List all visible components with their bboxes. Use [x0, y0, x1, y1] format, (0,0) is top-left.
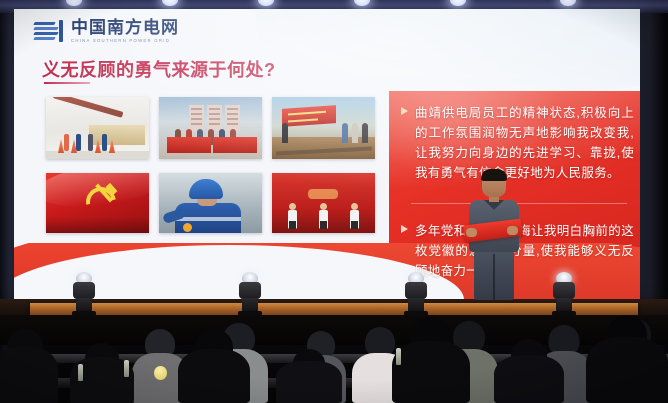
audience-member [276, 357, 342, 403]
slide-title: 义无反顾的勇气来源于何处? [42, 56, 276, 82]
drink-cup [154, 366, 167, 380]
photo-team-red-banner [159, 97, 262, 159]
photo-grid [46, 97, 376, 233]
arrow-bullet-icon [401, 225, 408, 233]
water-bottle [124, 360, 129, 377]
ceiling-lamp-icon [560, 0, 576, 6]
water-bottle [396, 348, 401, 365]
projection-screen: 中国南方电网 CHINA SOUTHERN POWER GRID 义无反顾的勇气… [14, 9, 640, 299]
audience-member [178, 345, 250, 403]
arrow-bullet-icon [401, 107, 408, 115]
audience-member [392, 337, 470, 403]
audience-area [0, 300, 668, 403]
brand-name-cn: 中国南方电网 [71, 19, 179, 36]
photo-lineman-blue-helmet [159, 173, 262, 233]
audience-member [494, 351, 564, 403]
title-underline [44, 82, 90, 84]
presenter [462, 170, 526, 300]
brand-logo: 中国南方电网 CHINA SOUTHERN POWER GRID [34, 19, 179, 43]
ceiling-lamp-icon [450, 0, 466, 6]
photo-field-red-sign [272, 97, 375, 159]
audience-member [0, 343, 58, 403]
water-bottle [78, 364, 83, 381]
csg-grid-logo-icon [34, 20, 64, 42]
photo-stage-performance [272, 173, 375, 233]
photo-party-flag [46, 173, 149, 233]
screenshot-root: 中国南方电网 CHINA SOUTHERN POWER GRID 义无反顾的勇气… [0, 0, 668, 403]
ceiling-lamp-icon [258, 0, 274, 6]
ceiling-lamp-icon [66, 0, 82, 6]
ceiling-lamp-icon [354, 0, 370, 6]
audience-member [586, 333, 668, 403]
brand-name-en: CHINA SOUTHERN POWER GRID [71, 39, 179, 43]
ceiling-lamp-icon [162, 0, 178, 6]
photo-substation-crane [46, 97, 149, 159]
